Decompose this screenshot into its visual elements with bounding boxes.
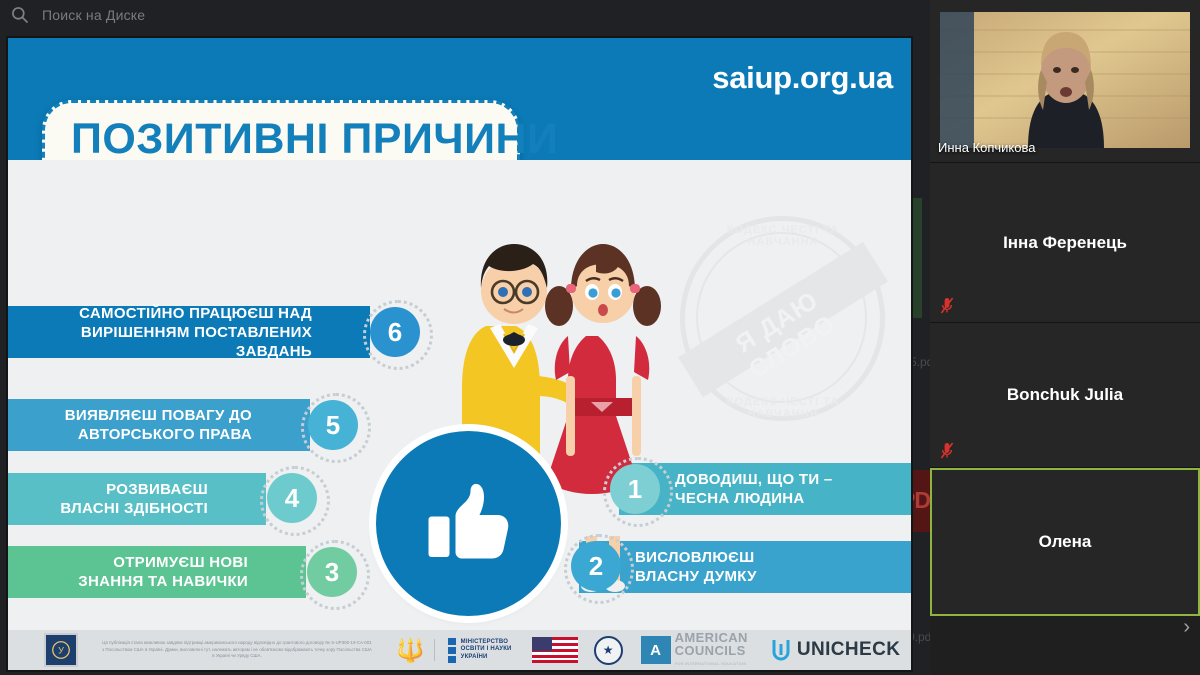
us-flag-icon	[532, 637, 578, 663]
reason-number-5: 5	[308, 400, 358, 450]
stamp-top-label: КОДЕКС ЧЕСТІ ТА НАВЧАННЯ	[698, 224, 868, 248]
reason-number-2: 2	[571, 541, 621, 591]
shared-slide: saiup.org.ua ПОЗИТИВНІ ПРИЧИНИ НЕ «ПЛАГІ…	[8, 38, 911, 670]
reason-text-5: ВИЯВЛЯЄШ ПОВАГУ ДОАВТОРСЬКОГО ПРАВА	[65, 406, 252, 444]
participant-name: Інна Ференець	[1003, 233, 1127, 253]
reason-number-1: 1	[610, 464, 660, 514]
reason-number-4: 4	[267, 473, 317, 523]
unicheck-logo-text: UNICHECK	[797, 639, 900, 661]
thumbs-up-badge	[376, 431, 561, 616]
unicheck-logo-mark	[770, 638, 792, 662]
reason-bar-3: ОТРИМУЄШ НОВІЗНАННЯ ТА НАВИЧКИ	[8, 546, 306, 598]
reason-bar-5: ВИЯВЛЯЄШ ПОВАГУ ДОАВТОРСЬКОГО ПРАВА	[8, 399, 310, 451]
thumbs-up-icon	[421, 476, 517, 572]
american-councils-logo-text: AMERICAN COUNCILS FOR INTERNATIONAL EDUC…	[675, 631, 748, 670]
slide-footer: У Ця публікація стала можливою завдяки п…	[8, 630, 911, 670]
reason-bar-4: РОЗВИВАЄШВЛАСНІ ЗДІБНОСТІ	[8, 473, 266, 525]
participant-name: Олена	[1039, 532, 1092, 552]
divider	[434, 639, 435, 661]
participant-tile-active-speaker[interactable]: Олена	[930, 468, 1200, 616]
conference-participants-rail: Инна Копчикова Інна Ференець Bonchuk Jul…	[930, 0, 1200, 675]
participant-name: Bonchuk Julia	[1007, 385, 1123, 405]
reason-text-6: САМОСТІЙНО ПРАЦЮЄШ НАДВИРІШЕННЯМ ПОСТАВЛ…	[8, 304, 312, 361]
reason-text-1: ДОВОДИШ, ЩО ТИ –ЧЕСНА ЛЮДИНА	[675, 470, 833, 508]
reason-number-3: 3	[307, 547, 357, 597]
mic-muted-icon	[940, 442, 954, 459]
mic-muted-icon	[940, 297, 954, 314]
saiup-emblem-logo: У	[44, 633, 78, 667]
participant-tile[interactable]: Bonchuk Julia	[930, 323, 1200, 468]
participant-tile[interactable]: Інна Ференець	[930, 163, 1200, 323]
mon-logo-text: МІНІСТЕРСТВО ОСВІТИ І НАУКИ УКРАЇНИ	[461, 639, 512, 662]
american-councils-logo-mark: A	[641, 636, 671, 664]
svg-text:У: У	[58, 646, 64, 656]
search-input[interactable]: Поиск на Диске	[30, 0, 998, 30]
mon-logo-mark	[448, 638, 456, 663]
participant-tile-video[interactable]: Инна Копчикова	[930, 0, 1200, 163]
participant-name: Инна Копчикова	[938, 140, 1035, 155]
next-page-arrow-icon[interactable]: ›	[1183, 616, 1190, 639]
footer-disclaimer: Ця публікація стала можливою завдяки під…	[102, 640, 372, 659]
state-department-seal-icon: ★	[594, 636, 623, 665]
reason-number-6: 6	[370, 307, 420, 357]
search-input-placeholder: Поиск на Диске	[42, 7, 145, 23]
reason-text-4: РОЗВИВАЄШВЛАСНІ ЗДІБНОСТІ	[60, 480, 208, 518]
reason-text-3: ОТРИМУЄШ НОВІЗНАННЯ ТА НАВИЧКИ	[78, 553, 248, 591]
slide-title-line-1: ПОЗИТИВНІ ПРИЧИНИ	[71, 112, 497, 167]
reason-bar-6: САМОСТІЙНО ПРАЦЮЄШ НАДВИРІШЕННЯМ ПОСТАВЛ…	[8, 306, 370, 358]
search-icon[interactable]	[10, 5, 30, 25]
webcam-video-feed	[940, 12, 1190, 148]
site-url-label: saiup.org.ua	[712, 60, 893, 96]
ukraine-trident-icon: 🔱	[396, 639, 425, 662]
